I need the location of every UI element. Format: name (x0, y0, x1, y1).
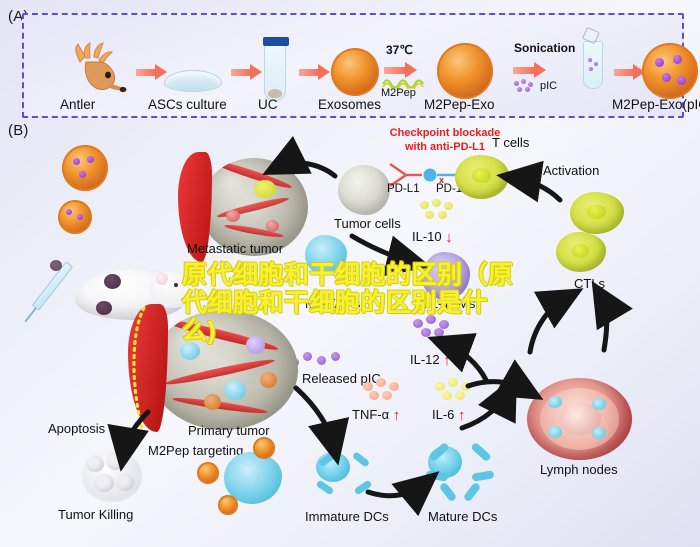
panel-a-step-label-m2pep-exo-pic: M2Pep-Exo(pIC) (612, 97, 700, 112)
panel-a-step-label-m2pep-exo: M2Pep-Exo (424, 97, 495, 112)
free-exosome-large-icon (62, 145, 108, 191)
il12-dots-icon (412, 315, 454, 341)
condition-sonication: Sonication (514, 41, 575, 55)
label-tumor-killing: Tumor Killing (58, 508, 133, 523)
lymph-node-icon (527, 378, 632, 460)
process-arrow-1 (136, 69, 156, 76)
label-tumor-cells: Tumor cells (334, 217, 401, 232)
targeting-exosome-2 (197, 462, 219, 484)
cytokine-il-10-name: IL-10 (412, 229, 442, 244)
condition-temperature: 37℃ (386, 43, 413, 57)
pic-dots-icon (513, 79, 537, 93)
ctl-cell-icon-2 (556, 232, 606, 272)
cytokine-il-12-arrow: ↑ (443, 352, 451, 369)
watermark-line-1: 原代细胞和干细胞的区别（原 (182, 261, 522, 289)
primary-tumor-icon (150, 310, 298, 430)
cytokine-il-6-arrow: ↑ (458, 407, 466, 424)
label-immature-dcs: Immature DCs (305, 510, 389, 525)
tumor-cell-icon (338, 165, 390, 215)
process-arrow-6 (614, 69, 634, 76)
label-activation: Activation (543, 164, 599, 179)
panel-a-step-label-antler: Antler (60, 97, 95, 112)
panel-a-step-label-ascs: ASCs culture (148, 97, 227, 112)
panel-a-box: Antler ASCs culture UC Exosomes 37℃ M2Pe… (22, 13, 684, 118)
condition-m2pep: M2Pep (381, 87, 416, 99)
immature-dc-icon (316, 452, 372, 502)
mouse-tumor-spot-1 (104, 274, 121, 289)
cytokine-tnf-alpha-arrow: ↑ (393, 407, 401, 424)
cytokine-tnf-alpha-name: TNF-α (352, 407, 389, 422)
panel-a-step-label-exosomes: Exosomes (318, 97, 381, 112)
cytokine-il-10-arrow: ↓ (445, 229, 453, 246)
primary-tumor-vessel (128, 304, 168, 432)
exosome-peptide-pic-icon (642, 43, 698, 99)
panel-b-letter: (B) (8, 122, 29, 139)
mouse-tumor-spot-2 (96, 301, 112, 315)
label-t-cells: T cells (492, 136, 529, 151)
m2-tam-icon (422, 252, 470, 300)
condition-pic: pIC (540, 80, 557, 92)
cytokine-il-12-name: IL-12 (410, 352, 440, 367)
petri-dish-icon (164, 70, 222, 92)
process-arrow-5 (513, 67, 535, 74)
label-ctls: CTLs (574, 277, 605, 292)
exosome-icon (331, 48, 379, 96)
tumor-killing-debris-icon (82, 450, 142, 502)
il10-dots-icon (418, 199, 458, 225)
label-apoptosis: Apoptosis (48, 422, 105, 437)
mouse-tumor-spot-3 (50, 260, 62, 271)
targeting-exosome-1 (253, 437, 275, 459)
process-arrow-2 (231, 69, 251, 76)
tnf-alpha-dots-icon (362, 378, 406, 404)
mouse-head-icon (150, 272, 196, 308)
figure-canvas: (A) Antler ASCs culture (0, 0, 700, 547)
cytokine-il-6-name: IL-6 (432, 407, 454, 422)
label-m2-tams: M2-TAMs (305, 297, 360, 312)
label-metastatic-tumor: Metastatic tumor (187, 242, 283, 257)
label-mature-dcs: Mature DCs (428, 510, 497, 525)
il6-dots-icon (434, 378, 478, 404)
label-m2pep-targeting: M2Pep targeting (148, 444, 243, 459)
ctl-cell-icon-1 (570, 192, 624, 234)
label-m1-tams: M1-TAMs (420, 297, 475, 312)
exosome-peptide-icon (437, 43, 493, 99)
targeting-exosome-3 (218, 495, 238, 515)
cytokine-tnf-alpha: TNF-α ↑ (352, 406, 400, 423)
label-lymph-nodes: Lymph nodes (540, 463, 618, 478)
eppendorf-contents-icon (587, 57, 601, 75)
process-arrow-4 (384, 67, 406, 74)
mature-dc-icon (428, 446, 492, 504)
label-pd-l1: PD-L1 (387, 183, 420, 196)
free-exosome-small-icon (58, 200, 92, 234)
cytokine-il-10: IL-10 ↓ (412, 228, 453, 245)
cytokine-il-12: IL-12 ↑ (410, 351, 451, 368)
process-arrow-3 (299, 69, 319, 76)
cytokine-il-6: IL-6 ↑ (432, 406, 466, 423)
panel-a-step-label-uc: UC (258, 97, 278, 112)
m1-tam-icon (305, 235, 347, 275)
deer-antler-icon (66, 40, 132, 98)
